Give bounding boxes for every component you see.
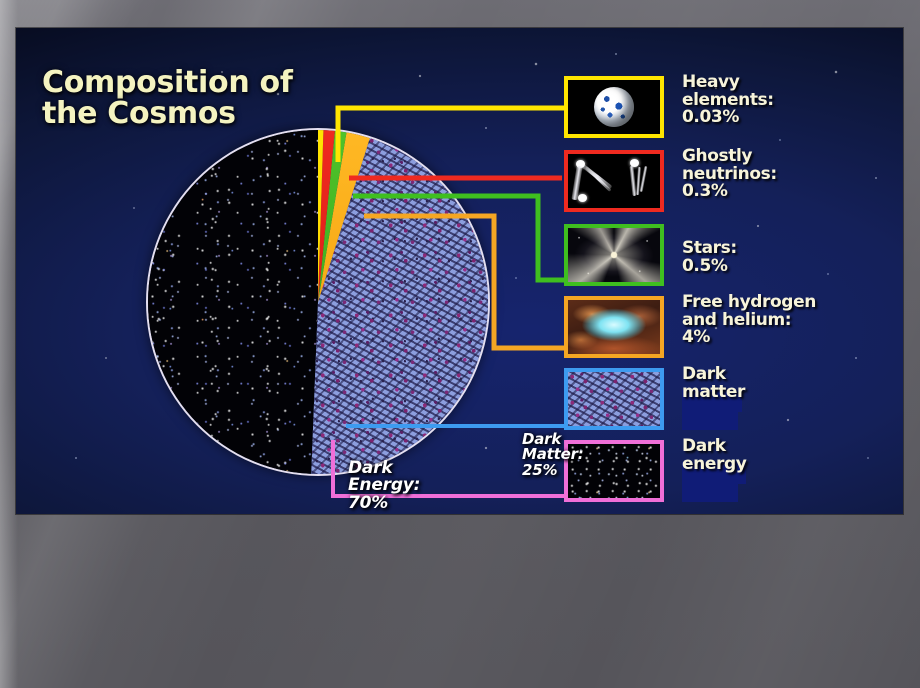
leader-line-heavy-elements [338,108,564,162]
pie-label-dark-energy: Dark Energy: 70% [348,460,420,512]
leader-line-free-hydrogen-helium [364,216,564,348]
slide-image[interactable]: Composition of the Cosmos [16,28,903,514]
leader-line-stars [353,196,564,280]
pie-label-dark-matter: Dark Matter: 25% [522,432,584,478]
presentation-canvas: Composition of the Cosmos [0,0,920,688]
leader-lines [16,28,903,514]
